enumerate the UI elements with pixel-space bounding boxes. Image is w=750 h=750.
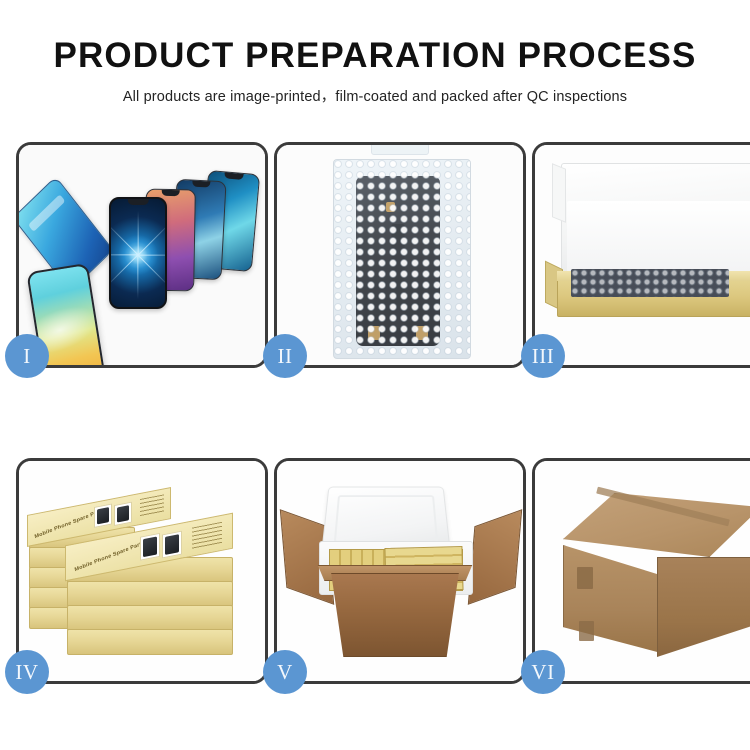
step-badge-4: IV	[5, 650, 49, 694]
page-header: PRODUCT PREPARATION PROCESS All products…	[0, 0, 750, 106]
open-box-with-foam-illustration	[535, 145, 750, 365]
bubble-wrap-bag-icon	[333, 159, 471, 359]
box-print-window	[140, 533, 160, 561]
panel-bubble-wrapped-part[interactable]: II	[274, 142, 526, 368]
box-print-window	[114, 502, 132, 526]
process-steps-grid: I II	[16, 142, 734, 684]
sealed-carton-illustration	[535, 461, 750, 681]
panel-stacked-boxes[interactable]: Mobile Phone Spare Parts Mobile Phone Sp…	[16, 458, 268, 684]
phones-and-parts-illustration	[19, 145, 265, 365]
panel-image-5	[277, 461, 523, 681]
foam-sheet-icon	[567, 201, 750, 277]
box-print-window	[94, 503, 112, 527]
step-badge-5: V	[263, 650, 307, 694]
step-badge-6: VI	[521, 650, 565, 694]
carton-with-foam-cooler-illustration	[277, 461, 523, 681]
panel-image-1	[19, 145, 265, 365]
carton-tape-icon	[577, 567, 593, 589]
panel-image-3	[535, 145, 750, 365]
box-stack: Mobile Phone Spare Parts Mobile Phone Sp…	[23, 483, 265, 673]
panel-box-with-foam[interactable]: III	[532, 142, 750, 368]
tempered-glass-phone-icon	[109, 197, 167, 309]
bag-seal-icon	[371, 145, 429, 155]
retail-box	[67, 605, 233, 631]
retail-box	[67, 629, 233, 655]
step-badge-2: II	[263, 334, 307, 378]
panel-products-and-parts[interactable]: I	[16, 142, 268, 368]
retail-box	[67, 581, 233, 607]
carton-flap-right-icon	[468, 509, 522, 605]
bubble-wrapped-contents-icon	[571, 269, 729, 297]
carton-right-face-icon	[657, 557, 750, 657]
box-print-window	[162, 531, 182, 559]
step-badge-3: III	[521, 334, 565, 378]
carton-tape-icon	[579, 621, 594, 641]
page-title: PRODUCT PREPARATION PROCESS	[0, 36, 750, 76]
step-badge-1: I	[5, 334, 49, 378]
bubble-texture	[334, 160, 470, 358]
carton-body-icon	[319, 573, 471, 657]
box-print-text-lines	[140, 494, 164, 517]
panel-image-4: Mobile Phone Spare Parts Mobile Phone Sp…	[19, 461, 265, 681]
panel-carton-with-foam-cooler[interactable]: V	[274, 458, 526, 684]
panel-sealed-carton[interactable]: VI	[532, 458, 750, 684]
panel-image-2	[277, 145, 523, 365]
carton-left-face-icon	[563, 545, 661, 653]
panel-image-6	[535, 461, 750, 681]
bubble-wrapped-screen-illustration	[277, 145, 523, 365]
page-subtitle: All products are image-printed，film-coat…	[0, 85, 750, 106]
box-print-text-lines	[192, 522, 222, 550]
stacked-retail-boxes-illustration: Mobile Phone Spare Parts Mobile Phone Sp…	[19, 461, 265, 681]
